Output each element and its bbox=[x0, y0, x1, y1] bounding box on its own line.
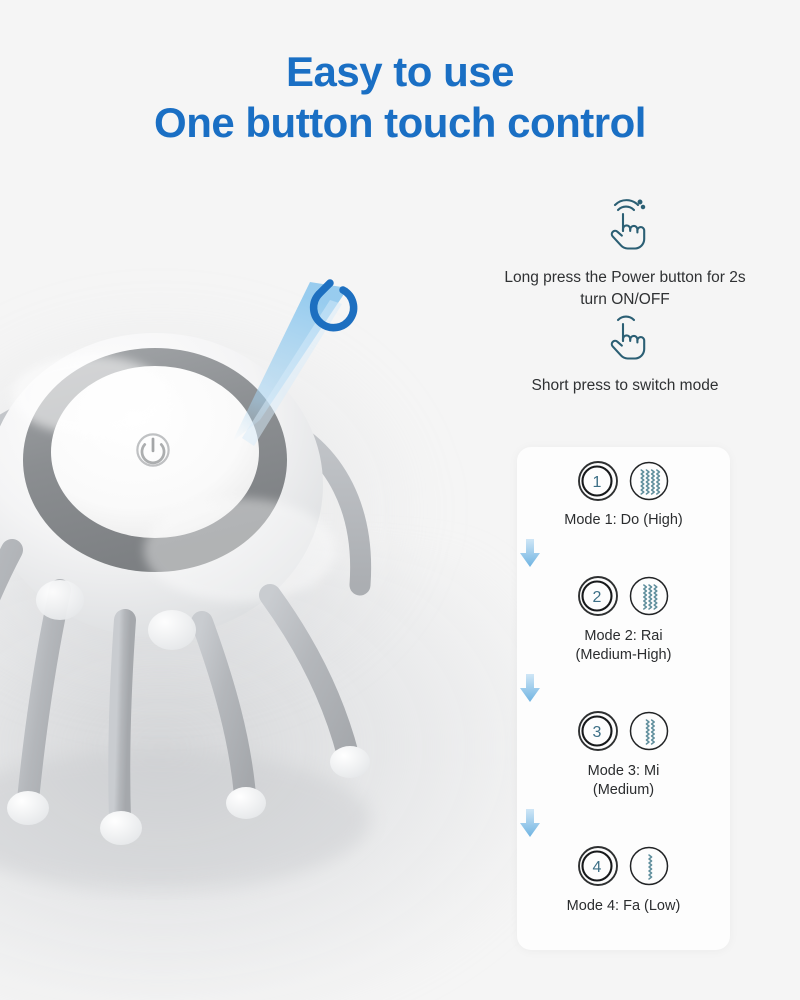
svg-text:1: 1 bbox=[593, 474, 602, 491]
vibration-wave-icon bbox=[628, 710, 670, 757]
down-arrow-icon bbox=[517, 538, 730, 573]
vibration-wave-icon bbox=[628, 575, 670, 622]
instruction-long-press: Long press the Power button for 2s turn … bbox=[500, 196, 750, 312]
power-button-callout bbox=[180, 270, 410, 490]
mode-number-icon: 1 bbox=[577, 460, 619, 507]
mode-icons: 3 bbox=[517, 712, 730, 756]
title-line-1: Easy to use bbox=[0, 48, 800, 95]
mode-label: Mode 3: Mi (Medium) bbox=[517, 762, 730, 801]
mode-item: 3Mode 3: Mi (Medium) bbox=[517, 712, 730, 801]
down-arrow-icon bbox=[517, 808, 730, 843]
instruction-short-press: Short press to switch mode bbox=[500, 308, 750, 397]
mode-icons: 4 bbox=[517, 847, 730, 891]
instruction-text: Long press the Power button for 2s turn … bbox=[500, 267, 750, 312]
hand-tap-long-icon bbox=[500, 196, 750, 257]
svg-text:2: 2 bbox=[593, 589, 602, 606]
mode-item: 2Mode 2: Rai (Medium-High) bbox=[517, 577, 730, 666]
mode-number-icon: 4 bbox=[577, 845, 619, 892]
mode-icons: 2 bbox=[517, 577, 730, 621]
mode-item: 4Mode 4: Fa (Low) bbox=[517, 847, 730, 917]
mode-sequence-card: 1Mode 1: Do (High)2Mode 2: Rai (Medium-H… bbox=[517, 447, 730, 950]
mode-label: Mode 1: Do (High) bbox=[517, 511, 730, 531]
mode-number-icon: 3 bbox=[577, 710, 619, 757]
page-title: Easy to use One button touch control bbox=[0, 48, 800, 146]
mode-label: Mode 2: Rai (Medium-High) bbox=[517, 627, 730, 666]
mode-number-icon: 2 bbox=[577, 575, 619, 622]
down-arrow-icon bbox=[517, 673, 730, 708]
title-line-2: One button touch control bbox=[0, 99, 800, 146]
infographic-canvas: Easy to use One button touch control bbox=[0, 0, 800, 1000]
mode-list: 1Mode 1: Do (High)2Mode 2: Rai (Medium-H… bbox=[517, 447, 730, 950]
mode-item: 1Mode 1: Do (High) bbox=[517, 461, 730, 531]
mode-label: Mode 4: Fa (Low) bbox=[517, 897, 730, 917]
svg-text:3: 3 bbox=[593, 724, 602, 741]
vibration-wave-icon bbox=[628, 460, 670, 507]
vibration-wave-icon bbox=[628, 845, 670, 892]
mode-icons: 1 bbox=[517, 461, 730, 505]
instruction-text: Short press to switch mode bbox=[500, 375, 750, 397]
hand-tap-short-icon bbox=[500, 308, 750, 365]
svg-text:4: 4 bbox=[593, 859, 602, 876]
